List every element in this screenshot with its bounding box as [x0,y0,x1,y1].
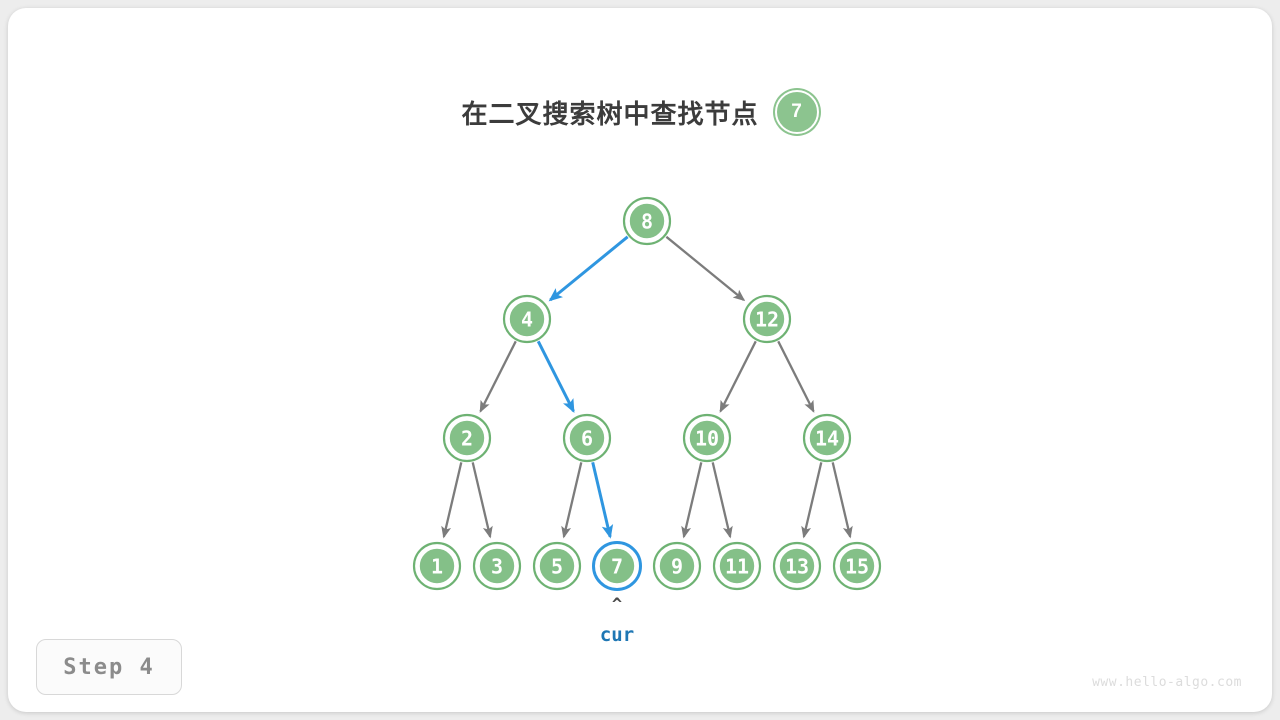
tree-node: 14 [804,415,850,461]
tree-edge [538,341,573,411]
tree-edge [666,237,743,300]
tree-nodes: 841226101413579111315 [414,198,880,590]
tree-edge [684,462,701,536]
node-value-label: 1 [431,555,443,579]
tree-edge [550,237,627,300]
caret-icon: ^ [612,595,622,615]
tree-node: 2 [444,415,490,461]
node-value-label: 8 [641,210,653,234]
tree-node: 3 [474,543,520,589]
step-badge: Step 4 [36,639,182,695]
tree-edges [444,237,850,537]
node-value-label: 15 [845,555,869,579]
tree-edge [778,341,813,411]
node-value-label: 10 [695,427,719,451]
node-value-label: 14 [815,427,839,451]
watermark: www.hello-algo.com [1092,675,1242,690]
cur-pointer-label: cur [600,624,634,646]
tree-node: 10 [684,415,730,461]
cur-pointer: ^ cur [600,595,634,646]
tree-node: 13 [774,543,820,589]
tree-edge [804,462,821,536]
tree-edge [473,462,490,536]
tree-edge [564,462,581,536]
step-label: Step 4 [63,655,154,680]
tree-node: 15 [834,543,880,589]
tree-edge [444,462,461,536]
tree-edge [481,341,516,411]
node-value-label: 4 [521,308,533,332]
node-value-label: 12 [755,308,779,332]
tree-node: 12 [744,296,790,342]
tree-edge [833,462,850,536]
diagram-card: 在二叉搜索树中查找节点 7 841226101413579111315 ^ cu… [8,8,1272,712]
tree-node: 6 [564,415,610,461]
tree-node: 11 [714,543,760,589]
tree-node: 8 [624,198,670,244]
tree-edge [593,462,610,536]
node-value-label: 7 [611,555,623,579]
node-value-label: 2 [461,427,473,451]
node-value-label: 9 [671,555,683,579]
node-value-label: 3 [491,555,503,579]
node-value-label: 5 [551,555,563,579]
binary-search-tree-diagram: 841226101413579111315 ^ cur [8,8,1272,712]
tree-edge [721,341,756,411]
node-value-label: 11 [725,555,749,579]
node-value-label: 6 [581,427,593,451]
node-value-label: 13 [785,555,809,579]
tree-node: 1 [414,543,460,589]
tree-node: 9 [654,543,700,589]
tree-node: 7 [594,543,641,590]
tree-node: 5 [534,543,580,589]
tree-node: 4 [504,296,550,342]
tree-edge [713,462,730,536]
